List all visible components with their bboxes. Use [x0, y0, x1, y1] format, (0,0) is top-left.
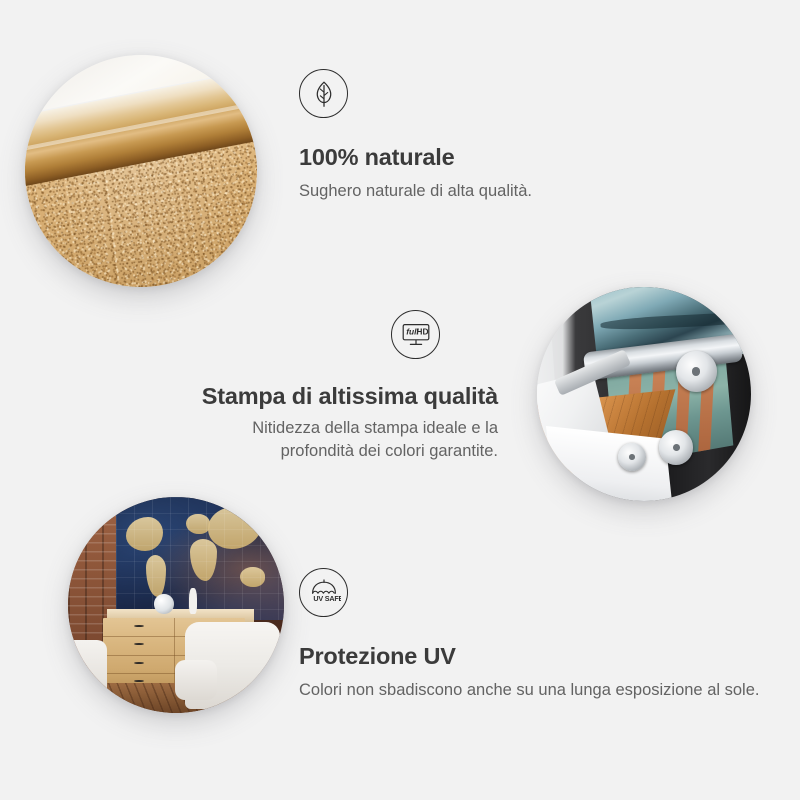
feature-block-natural: 100% naturale Sughero naturale di alta q… [299, 69, 532, 203]
feature-title: 100% naturale [299, 144, 532, 171]
promo-banner: 100% naturale Sughero naturale di alta q… [0, 0, 800, 800]
feature-description: Colori non sbadiscono anche su una lunga… [299, 679, 759, 702]
living-room-world-map-photo [68, 497, 284, 713]
cork-board-closeup-photo [25, 55, 257, 287]
printer-wheel [618, 443, 646, 471]
feature-title: Protezione UV [299, 643, 759, 670]
feature-block-uv-protection: UV SAFE Protezione UV Colori non sbadisc… [299, 568, 759, 702]
feature-description: Nitidezza della stampa ideale e la profo… [186, 417, 498, 464]
decorative-figurine [189, 588, 197, 614]
uv-safe-umbrella-icon: UV SAFE [299, 568, 348, 617]
large-format-printer-photo [537, 287, 751, 501]
svg-text:UV SAFE: UV SAFE [313, 594, 341, 603]
feature-description: Sughero naturale di alta qualità. [299, 180, 532, 203]
decorative-globe [154, 594, 173, 613]
svg-text:HD: HD [416, 326, 428, 336]
armchair-left [68, 640, 107, 705]
leaf-icon [299, 69, 348, 118]
printer-wheel [659, 430, 693, 464]
printer-wheel [676, 351, 717, 392]
printer-output-tray [546, 426, 674, 501]
feature-block-print-quality: full HD Stampa di altissima qualità Niti… [186, 310, 498, 464]
feature-title: Stampa di altissima qualità [186, 383, 498, 410]
world-map-wall-art [116, 497, 284, 620]
white-armchair [185, 622, 280, 708]
fullhd-monitor-icon: full HD [391, 310, 440, 359]
